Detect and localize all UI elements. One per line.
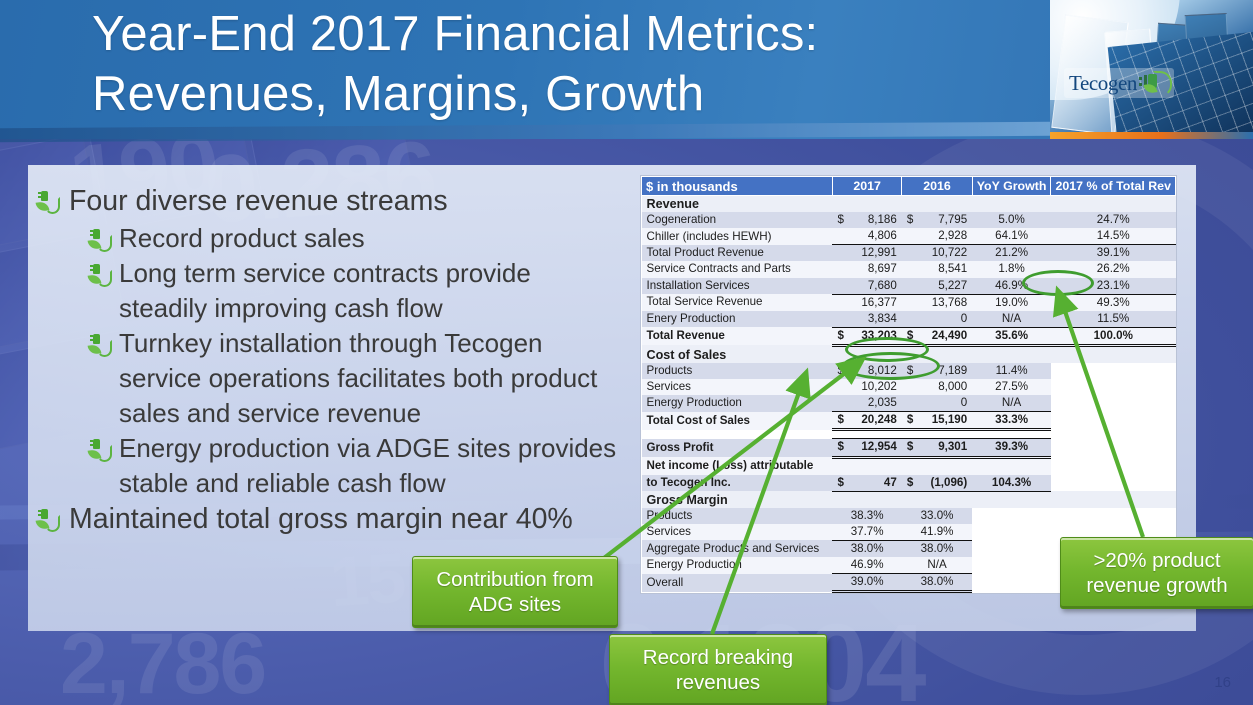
callout-product-growth[interactable]: >20% product revenue growth	[1060, 537, 1253, 609]
cell-yoy: N/A	[972, 311, 1051, 328]
cell-pct	[1051, 363, 1176, 379]
cell-2017: 2,035	[850, 395, 901, 412]
row-label: Products	[642, 508, 833, 524]
cell-yoy: 39.3%	[972, 439, 1051, 457]
bullet-text: Maintained total gross margin near 40%	[69, 501, 626, 538]
cell-2017: 39.0%	[832, 574, 901, 592]
cell-pct	[1051, 508, 1176, 524]
row-label: Overall	[642, 574, 833, 592]
cell-2016: 8,000	[920, 379, 972, 395]
cell-pct: 11.5%	[1051, 311, 1176, 328]
leaf-plug-icon	[1139, 70, 1169, 96]
cell-currency-2017	[832, 294, 850, 311]
cell-2016: 2,928	[920, 228, 972, 245]
table-row: Services10,2028,00027.5%	[642, 379, 1176, 395]
cell-pct	[1051, 457, 1176, 475]
tecogen-logo: Tecogen	[1064, 68, 1174, 98]
col-header-yoy: YoY Growth	[972, 177, 1051, 196]
bullet-item: Maintained total gross margin near 40%	[36, 501, 626, 538]
row-label: Total Product Revenue	[642, 245, 833, 262]
col-header-2017: 2017	[832, 177, 901, 196]
cell-2016: 8,541	[920, 261, 972, 277]
table-row: Installation Services7,6805,22746.9%23.1…	[642, 278, 1176, 295]
cell-2016: 13,768	[920, 294, 972, 311]
cell-currency-2016	[902, 294, 920, 311]
cell-2017: 20,248	[850, 412, 901, 430]
cell-2017: 16,377	[850, 294, 901, 311]
cell-2017: 38.0%	[832, 540, 901, 557]
cell-yoy: 27.5%	[972, 379, 1051, 395]
cell-currency-2017	[832, 311, 850, 328]
table-row: to Tecogen Inc.$47$(1,096)104.3%	[642, 475, 1176, 492]
bullet-text: Long term service contracts provide stea…	[119, 256, 626, 326]
sprout-plug-icon	[88, 228, 108, 252]
cell-yoy	[972, 557, 1051, 574]
cell-2016: N/A	[902, 557, 972, 574]
col-header-label: $ in thousands	[642, 177, 833, 196]
cell-yoy: 11.4%	[972, 363, 1051, 379]
cell-pct: 14.5%	[1051, 228, 1176, 245]
row-label: Service Contracts and Parts	[642, 261, 833, 277]
cell-currency-2016	[902, 261, 920, 277]
row-label: Enery Production	[642, 311, 833, 328]
cell-currency-2017	[832, 245, 850, 262]
highlight-ellipse-product-growth	[1022, 270, 1094, 296]
page-title: Year-End 2017 Financial Metrics: Revenue…	[92, 4, 1052, 124]
cell-yoy: 104.3%	[972, 475, 1051, 492]
cell-yoy: N/A	[972, 395, 1051, 412]
cell-2017: 47	[850, 475, 901, 492]
table-row: Total Product Revenue12,99110,72221.2%39…	[642, 245, 1176, 262]
table-row: Service Contracts and Parts8,6978,5411.8…	[642, 261, 1176, 277]
row-label: Energy Production	[642, 395, 833, 412]
callout-adg-contribution[interactable]: Contribution from ADG sites	[412, 556, 618, 628]
row-label: Total Service Revenue	[642, 294, 833, 311]
header-photo: Tecogen	[1050, 0, 1253, 139]
cell-currency-2017	[832, 395, 850, 412]
bullet-item: Energy production via ADGE sites provide…	[88, 431, 626, 501]
cell-yoy	[972, 524, 1051, 541]
bullet-list: Four diverse revenue streams Record prod…	[36, 183, 626, 539]
cell-yoy	[972, 574, 1051, 592]
cell-yoy	[972, 540, 1051, 557]
cell-2017: 37.7%	[832, 524, 901, 541]
cell-currency-2017: $	[832, 412, 850, 430]
cell-2017: 12,954	[850, 439, 901, 457]
cell-yoy	[972, 457, 1051, 475]
table-row: Total Service Revenue16,37713,76819.0%49…	[642, 294, 1176, 311]
section-label: Revenue	[642, 196, 1176, 213]
cell-2016	[920, 457, 972, 475]
cell-2017: 38.3%	[832, 508, 901, 524]
cell-2017: 4,806	[850, 228, 901, 245]
row-label: to Tecogen Inc.	[642, 475, 833, 492]
sprout-plug-icon	[36, 190, 58, 216]
cell-pct	[1051, 439, 1176, 457]
cell-currency-2017	[832, 261, 850, 277]
table-row: Chiller (includes HEWH)4,8062,92864.1%14…	[642, 228, 1176, 245]
cell-currency-2017	[832, 228, 850, 245]
cell-2017: 46.9%	[832, 557, 901, 574]
row-label: Services	[642, 524, 833, 541]
cell-2016: 15,190	[920, 412, 972, 430]
cell-currency-2016: $	[902, 412, 920, 430]
bullet-text: Record product sales	[119, 221, 626, 256]
cell-currency-2016: $	[902, 439, 920, 457]
cell-pct	[1051, 379, 1176, 395]
sprout-plug-icon	[88, 333, 108, 357]
callout-record-revenues[interactable]: Record breaking revenues	[609, 634, 827, 705]
cell-2016: 24,490	[920, 327, 972, 345]
table-row: Gross Profit$12,954$9,30139.3%	[642, 439, 1176, 457]
cell-yoy: 64.1%	[972, 228, 1051, 245]
row-label: Services	[642, 379, 833, 395]
cell-pct	[1051, 395, 1176, 412]
col-header-2016: 2016	[902, 177, 972, 196]
row-label: Gross Profit	[642, 439, 833, 457]
row-label: Chiller (includes HEWH)	[642, 228, 833, 245]
table-body: RevenueCogeneration$8,186$7,7955.0%24.7%…	[642, 196, 1176, 592]
cell-pct: 39.1%	[1051, 245, 1176, 262]
bullet-item: Four diverse revenue streams	[36, 183, 626, 220]
cell-currency-2017: $	[832, 439, 850, 457]
cell-yoy: 5.0%	[972, 212, 1051, 228]
cell-pct	[1051, 412, 1176, 430]
cell-2017: 8,186	[850, 212, 901, 228]
cell-currency-2017	[832, 379, 850, 395]
table-row: Net income (Loss) attributable	[642, 457, 1176, 475]
cell-currency-2016	[902, 278, 920, 295]
cell-2016: 7,795	[920, 212, 972, 228]
cell-2016: 0	[920, 395, 972, 412]
row-label: Products	[642, 363, 833, 379]
cell-2017: 3,834	[850, 311, 901, 328]
cell-yoy: 35.6%	[972, 327, 1051, 345]
cell-2016: (1,096)	[920, 475, 972, 492]
cell-currency-2016	[902, 245, 920, 262]
table-section-header: Revenue	[642, 196, 1176, 213]
cell-currency-2016	[902, 379, 920, 395]
logo-wordmark: Tecogen	[1069, 73, 1137, 94]
cell-pct: 100.0%	[1051, 327, 1176, 345]
cell-currency-2017: $	[832, 475, 850, 492]
cell-pct	[1051, 475, 1176, 492]
table-row: Enery Production3,8340N/A11.5%	[642, 311, 1176, 328]
cell-yoy: 33.3%	[972, 412, 1051, 430]
cell-currency-2016	[902, 457, 920, 475]
cell-2016: 9,301	[920, 439, 972, 457]
cell-currency-2016	[902, 311, 920, 328]
accent-stripe	[1050, 132, 1253, 139]
row-label: Energy Production	[642, 557, 833, 574]
row-label: Total Revenue	[642, 327, 833, 345]
cell-yoy: 21.2%	[972, 245, 1051, 262]
cell-2016: 0	[920, 311, 972, 328]
cell-currency-2017	[832, 457, 850, 475]
bullet-item: Long term service contracts provide stea…	[88, 256, 626, 326]
table-row: Total Cost of Sales$20,248$15,19033.3%	[642, 412, 1176, 430]
bullet-text: Turnkey installation through Tecogen ser…	[119, 326, 626, 431]
bullet-item: Turnkey installation through Tecogen ser…	[88, 326, 626, 431]
sprout-plug-icon	[88, 263, 108, 287]
cell-2016: 38.0%	[902, 574, 972, 592]
cell-2016: 38.0%	[902, 540, 972, 557]
cell-currency-2016: $	[902, 475, 920, 492]
cell-yoy: 19.0%	[972, 294, 1051, 311]
cell-yoy	[972, 508, 1051, 524]
page-title-line1: Year-End 2017 Financial Metrics:	[92, 4, 1052, 64]
row-label: Net income (Loss) attributable	[642, 457, 833, 475]
cell-2016: 5,227	[920, 278, 972, 295]
row-label: Aggregate Products and Services	[642, 540, 833, 557]
cell-2017: 10,202	[850, 379, 901, 395]
table-header-row: $ in thousands 2017 2016 YoY Growth 2017…	[642, 177, 1176, 196]
col-header-pct: 2017 % of Total Rev	[1051, 177, 1176, 196]
table-row: Cogeneration$8,186$7,7955.0%24.7%	[642, 212, 1176, 228]
cell-currency-2017	[832, 278, 850, 295]
cell-currency-2017: $	[832, 327, 850, 345]
sprout-plug-icon	[88, 438, 108, 462]
cell-pct: 24.7%	[1051, 212, 1176, 228]
sprout-plug-icon	[36, 508, 58, 534]
row-label: Total Cost of Sales	[642, 412, 833, 430]
bullet-text: Four diverse revenue streams	[69, 183, 626, 220]
cell-2017: 8,697	[850, 261, 901, 277]
cell-pct: 49.3%	[1051, 294, 1176, 311]
cell-currency-2016	[902, 228, 920, 245]
cell-2017: 7,680	[850, 278, 901, 295]
financial-table: $ in thousands 2017 2016 YoY Growth 2017…	[641, 176, 1176, 593]
highlight-ellipse-total-revenue	[842, 352, 940, 380]
table-section-header: Gross Margin	[642, 491, 1176, 508]
table-spacer	[642, 430, 1176, 439]
table-row: Products38.3%33.0%	[642, 508, 1176, 524]
cell-currency-2017: $	[832, 212, 850, 228]
cell-2016: 10,722	[920, 245, 972, 262]
bullet-item: Record product sales	[88, 221, 626, 256]
row-label: Cogeneration	[642, 212, 833, 228]
cell-2017: 12,991	[850, 245, 901, 262]
page-number: 16	[1214, 674, 1231, 691]
cell-currency-2016: $	[902, 212, 920, 228]
page-title-line2: Revenues, Margins, Growth	[92, 64, 1052, 124]
cell-currency-2016	[902, 395, 920, 412]
table-row: Energy Production2,0350N/A	[642, 395, 1176, 412]
slide-canvas: 190 0.286 2,786 6.1204 15 Year-End 2017 …	[0, 0, 1253, 705]
cell-2017	[850, 457, 901, 475]
cell-2016: 41.9%	[902, 524, 972, 541]
section-label: Gross Margin	[642, 491, 1176, 508]
row-label: Installation Services	[642, 278, 833, 295]
cell-2016: 33.0%	[902, 508, 972, 524]
bullet-text: Energy production via ADGE sites provide…	[119, 431, 626, 501]
